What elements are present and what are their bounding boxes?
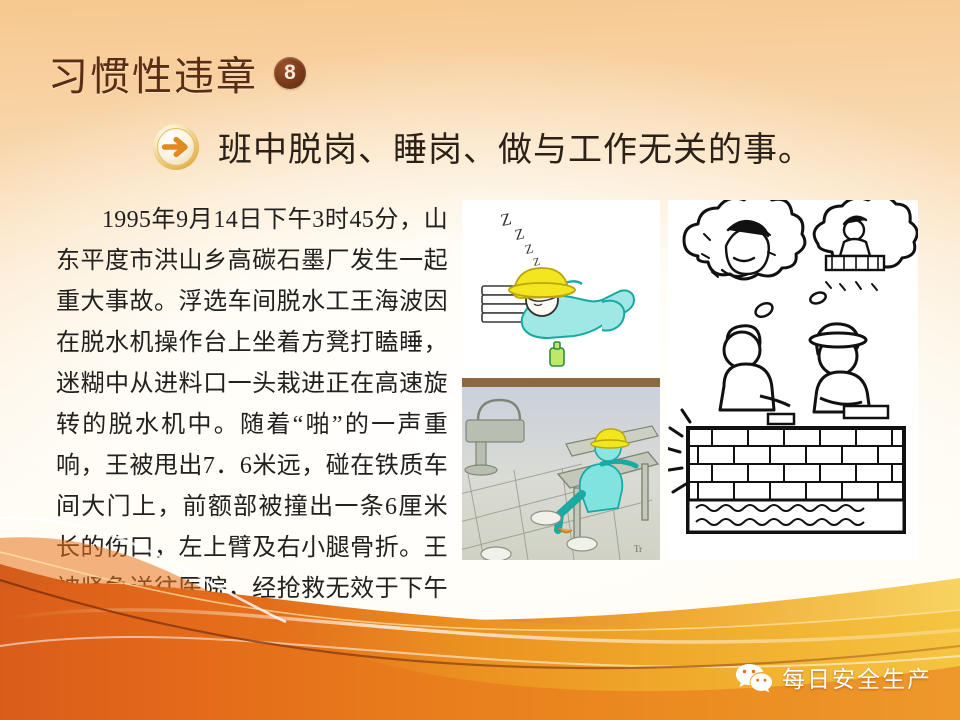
arrow-right-circle-icon: [152, 123, 200, 171]
wechat-icon: [734, 661, 774, 693]
page-title: 习惯性违章 8: [48, 44, 306, 102]
title-text: 习惯性违章: [48, 44, 258, 102]
illustration-sleeping-worker: Z Z Z Z: [462, 200, 660, 372]
subtitle-row: 班中脱岗、睡岗、做与工作无关的事。: [152, 122, 813, 171]
footer-account-badge: 每日安全生产: [734, 652, 948, 702]
slide-canvas: 习惯性违章 8: [0, 0, 960, 720]
section-number-badge: 8: [274, 57, 306, 89]
badge-number: 8: [284, 62, 296, 84]
subtitle-text: 班中脱岗、睡岗、做与工作无关的事。: [218, 122, 813, 171]
footer-account-name: 每日安全生产: [782, 660, 932, 694]
